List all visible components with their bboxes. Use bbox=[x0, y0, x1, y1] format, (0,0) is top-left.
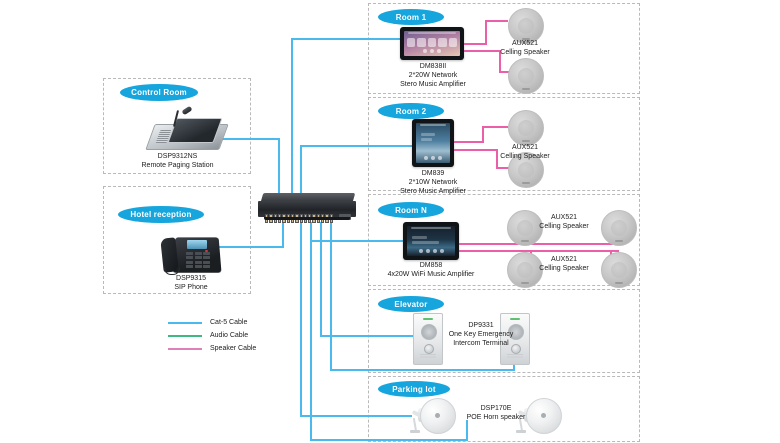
amplifier-room-1-statusbar bbox=[408, 32, 456, 34]
speaker-cable-room2-a-h1 bbox=[454, 141, 484, 143]
intercom-left-status-led bbox=[423, 318, 433, 320]
zone-pill-elevator: Elevator bbox=[378, 296, 444, 312]
switch-chassis bbox=[258, 201, 356, 217]
room-1-model: DM838II bbox=[385, 62, 481, 71]
device-amplifier-room-2[interactable] bbox=[412, 119, 454, 167]
speaker-cable-room2-a-v bbox=[482, 126, 484, 143]
room-1-type: Stero Music Amplifier bbox=[385, 80, 481, 89]
cable-cat5-riser-elevator-b bbox=[330, 222, 332, 369]
horn-right-mount-foot bbox=[516, 430, 526, 433]
amplifier-room-2-screen bbox=[416, 123, 450, 163]
caption-room-1-device: DM838II 2*20W Network Stero Music Amplif… bbox=[385, 62, 481, 89]
zone-pill-parking-lot: Parking lot bbox=[378, 381, 450, 397]
ceiling-speaker-room-1-bottom bbox=[508, 58, 544, 94]
speaker-cable-room2-b-h1 bbox=[454, 149, 498, 151]
legend-item-cat5: Cat-5 Cable bbox=[168, 316, 298, 329]
network-switch[interactable] bbox=[258, 193, 356, 223]
parking-lot-desc: POE Horn speaker bbox=[458, 413, 534, 422]
speaker-cable-room2-a-h2 bbox=[482, 126, 508, 128]
intercom-left-label-plate bbox=[420, 354, 436, 359]
horn-left-mount-foot bbox=[410, 430, 420, 433]
room-2-speaker-desc: Celling Speaker bbox=[493, 152, 557, 161]
intercom-right-status-led bbox=[510, 318, 520, 320]
device-horn-speaker-left bbox=[410, 398, 456, 434]
caption-room-2-speaker: AUX521 Celling Speaker bbox=[493, 143, 557, 161]
amplifier-room-1-app-icons bbox=[407, 38, 457, 47]
legend-swatch-cat5 bbox=[168, 322, 202, 324]
amplifier-room-2-dock bbox=[420, 156, 446, 160]
zone-pill-room-n: Room N bbox=[378, 202, 444, 218]
room-2-speaker-model: AUX521 bbox=[493, 143, 557, 152]
amplifier-room-n-screen bbox=[407, 226, 455, 256]
amplifier-room-n-content bbox=[412, 236, 450, 247]
amplifier-room-2-statusbar bbox=[420, 124, 446, 126]
cable-cat5-paging-to-bus bbox=[218, 138, 280, 140]
zone-pill-control-room: Control Room bbox=[120, 84, 198, 101]
device-sip-phone[interactable] bbox=[160, 228, 222, 274]
ceiling-speaker-room-n-3 bbox=[601, 210, 637, 246]
speaker-cable-room1-a-h2 bbox=[485, 20, 508, 22]
hotel-reception-desc: SIP Phone bbox=[138, 283, 244, 292]
amplifier-room-n-statusbar bbox=[411, 227, 451, 229]
cable-cat5-to-parking-a bbox=[300, 415, 412, 417]
room-2-model: DM839 bbox=[385, 169, 481, 178]
control-room-model: DSP9312NS bbox=[125, 152, 230, 161]
device-paging-station[interactable] bbox=[150, 110, 224, 152]
elevator-line2: One Key Emergency bbox=[448, 330, 514, 339]
caption-control-room-device: DSP9312NS Remote Paging Station bbox=[125, 152, 230, 170]
switch-base bbox=[264, 217, 350, 220]
intercom-left-speaker-grill bbox=[421, 324, 437, 340]
sip-phone-keypad[interactable] bbox=[186, 252, 210, 268]
legend-swatch-audio bbox=[168, 335, 202, 337]
zone-pill-room-2: Room 2 bbox=[378, 103, 444, 119]
cable-cat5-to-parking-b bbox=[310, 439, 468, 441]
network-diagram-canvas: Control Room DSP9312NS Remote Paging Sta… bbox=[0, 0, 780, 443]
caption-elevator-device: DP9331 One Key Emergency Intercom Termin… bbox=[448, 321, 514, 348]
elevator-line3: Intercom Terminal bbox=[448, 339, 514, 348]
sip-phone-display bbox=[187, 240, 207, 249]
cable-cat5-to-elevator-b bbox=[330, 369, 515, 371]
ceiling-speaker-room-n-4 bbox=[601, 252, 637, 288]
legend-swatch-speaker bbox=[168, 348, 202, 350]
parking-lot-model: DSP170E bbox=[458, 404, 534, 413]
speaker-cable-room1-a-h1 bbox=[464, 43, 487, 45]
caption-room-1-speaker: AUX521 Celling Speaker bbox=[493, 39, 557, 57]
intercom-right-label-plate bbox=[507, 354, 523, 359]
amplifier-room-n-dock bbox=[411, 249, 451, 253]
cable-cat5-to-roomn bbox=[310, 240, 405, 242]
amplifier-room-1-dock bbox=[408, 49, 456, 53]
legend-label-speaker: Speaker Cable bbox=[210, 345, 256, 352]
elevator-model: DP9331 bbox=[448, 321, 514, 330]
cable-cat5-to-room2 bbox=[300, 145, 413, 147]
caption-room-n-speaker-bottom: AUX521 Celling Speaker bbox=[532, 255, 596, 273]
cable-cat5-parking-b-up bbox=[466, 420, 468, 441]
room-n-speaker-model-top: AUX521 bbox=[532, 213, 596, 222]
caption-parking-lot-device: DSP170E POE Horn speaker bbox=[458, 404, 534, 422]
room-1-speaker-desc: Celling Speaker bbox=[493, 48, 557, 57]
room-n-speaker-desc-bottom: Celling Speaker bbox=[532, 264, 596, 273]
intercom-left-call-button[interactable] bbox=[424, 344, 434, 354]
zone-pill-hotel-reception: Hotel reception bbox=[118, 206, 204, 223]
speaker-cable-roomn-bus-bottom bbox=[459, 250, 619, 252]
room-n-power: 4x20W WiFi Music Amplifier bbox=[376, 270, 486, 279]
room-1-power: 2*20W Network bbox=[385, 71, 481, 80]
room-n-speaker-desc-top: Celling Speaker bbox=[532, 222, 596, 231]
amplifier-room-1-screen bbox=[404, 31, 460, 56]
legend-label-cat5: Cat-5 Cable bbox=[210, 319, 247, 326]
cable-legend: Cat-5 Cable Audio Cable Speaker Cable bbox=[168, 316, 298, 355]
cable-cat5-to-room1 bbox=[291, 38, 401, 40]
zone-pill-room-1: Room 1 bbox=[378, 9, 444, 25]
control-room-desc: Remote Paging Station bbox=[125, 161, 230, 170]
device-amplifier-room-n[interactable] bbox=[403, 222, 459, 260]
cable-cat5-riser-room1 bbox=[291, 38, 293, 206]
hotel-reception-model: DSP9315 bbox=[138, 274, 244, 283]
horn-left-cone bbox=[420, 398, 456, 434]
room-1-speaker-model: AUX521 bbox=[493, 39, 557, 48]
caption-room-2-device: DM839 2*10W Network Stero Music Amplifie… bbox=[385, 169, 481, 196]
device-amplifier-room-1[interactable] bbox=[400, 27, 464, 60]
caption-hotel-reception-device: DSP9315 SIP Phone bbox=[138, 274, 244, 292]
room-2-power: 2*10W Network bbox=[385, 178, 481, 187]
cable-cat5-riser-elevator-a bbox=[320, 222, 322, 335]
legend-label-audio: Audio Cable bbox=[210, 332, 248, 339]
device-intercom-terminal-left[interactable] bbox=[413, 313, 443, 365]
amplifier-room-2-content bbox=[421, 133, 445, 154]
cable-cat5-to-elevator-a bbox=[320, 335, 415, 337]
room-2-type: Stero Music Amplifier bbox=[385, 187, 481, 196]
legend-item-audio: Audio Cable bbox=[168, 329, 298, 342]
speaker-cable-room1-a-v bbox=[485, 20, 487, 45]
room-n-speaker-model-bottom: AUX521 bbox=[532, 255, 596, 264]
ceiling-speaker-room-2-top bbox=[508, 110, 544, 146]
speaker-cable-roomn-bus-top bbox=[459, 243, 619, 245]
caption-room-n-device: DM858 4x20W WiFi Music Amplifier bbox=[376, 261, 486, 279]
cable-cat5-riser-parking-b bbox=[310, 222, 312, 441]
legend-item-speaker: Speaker Cable bbox=[168, 342, 298, 355]
room-n-model: DM858 bbox=[376, 261, 486, 270]
cable-cat5-sip-to-bus bbox=[216, 246, 284, 248]
cable-cat5-riser-parking-a bbox=[300, 222, 302, 415]
caption-room-n-speaker-top: AUX521 Celling Speaker bbox=[532, 213, 596, 231]
